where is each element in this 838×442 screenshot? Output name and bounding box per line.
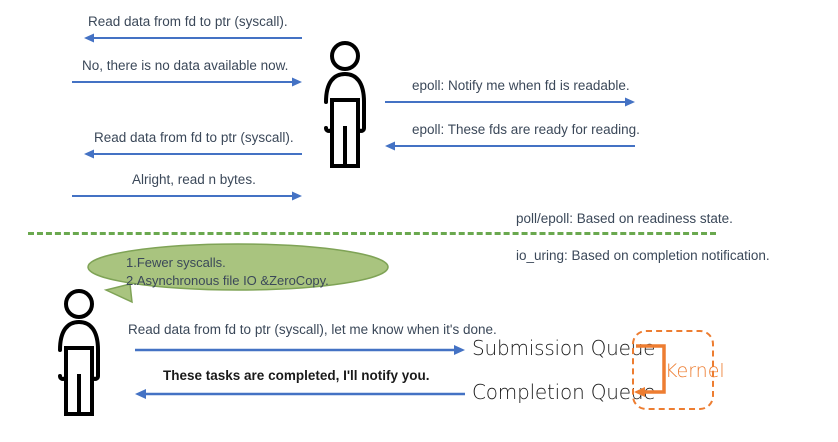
submission-queue-label: Submission Queue xyxy=(472,338,655,358)
top-right-message-1-label: epoll: Notify me when fd is readable. xyxy=(412,78,630,95)
top-right-arrow-1 xyxy=(385,96,635,108)
speech-bubble-line-2: 2.Asynchronous file IO &ZeroCopy. xyxy=(126,272,329,291)
top-left-arrow-3 xyxy=(84,148,302,160)
bottom-arrow-2 xyxy=(135,388,465,400)
top-left-arrow-2 xyxy=(72,76,302,88)
top-left-message-2-label: No, there is no data available now. xyxy=(82,58,288,75)
diagram-canvas: Read data from fd to ptr (syscall). No, … xyxy=(0,0,838,442)
top-left-message-4-label: Alright, read n bytes. xyxy=(132,172,256,189)
kernel-label: Kernel xyxy=(665,360,725,382)
divider-note-below: io_uring: Based on completion notificati… xyxy=(516,248,770,265)
top-person-figure xyxy=(310,40,380,175)
completion-queue-label: Completion Queue xyxy=(472,382,655,402)
bottom-message-1-label: Read data from fd to ptr (syscall), let … xyxy=(128,322,497,339)
top-left-message-3-label: Read data from fd to ptr (syscall). xyxy=(94,130,294,147)
bottom-arrow-1 xyxy=(135,344,465,356)
top-right-arrow-2 xyxy=(385,140,635,152)
top-right-message-2-label: epoll: These fds are ready for reading. xyxy=(412,122,640,139)
top-left-arrow-1 xyxy=(84,32,302,44)
divider-note-above: poll/epoll: Based on readiness state. xyxy=(516,211,733,228)
section-divider xyxy=(28,232,716,235)
bottom-message-2-label: These tasks are completed, I'll notify y… xyxy=(163,368,430,385)
speech-bubble-line-1: 1.Fewer syscalls. xyxy=(126,254,226,273)
top-left-arrow-4 xyxy=(72,190,302,202)
top-left-message-1-label: Read data from fd to ptr (syscall). xyxy=(88,14,288,31)
bottom-person-figure xyxy=(44,288,114,423)
